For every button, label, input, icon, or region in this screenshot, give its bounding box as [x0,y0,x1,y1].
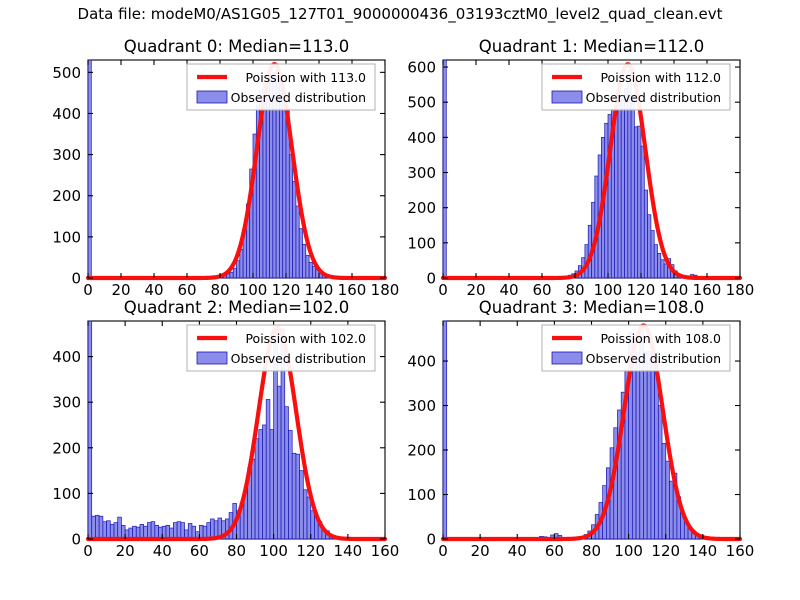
legend-label-poisson: Poission with 102.0 [245,331,366,346]
legend-patch-swatch [197,352,227,364]
histogram-bar [306,255,309,278]
histogram-bar [643,352,647,539]
histogram-bar [303,490,307,539]
subplot-title-quadrant-0: Quadrant 0: Median=113.0 [124,37,349,56]
x-tick-label: 80 [227,542,246,560]
legend-label-observed: Observed distribution [586,90,721,105]
y-tick-label: 0 [426,270,436,288]
x-tick-label: 40 [508,542,527,560]
histogram-bar [88,321,92,539]
histogram-bar [240,249,243,278]
histogram-bar [188,523,192,539]
histogram-bar [303,244,306,278]
subplot-title-quadrant-2: Quadrant 2: Median=102.0 [124,298,349,317]
legend-quadrant-0[interactable]: Poission with 113.0Observed distribution [187,64,375,110]
histogram-bar [658,406,662,539]
chart-quadrant-3: Quadrant 3: Median=108.00204060801001201… [395,295,748,569]
histogram-bar [312,266,315,278]
histogram-bar [107,521,111,539]
histogram-bar [309,262,312,278]
y-tick-label: 200 [407,199,436,217]
histogram-bar [233,268,236,278]
legend-label-observed: Observed distribution [231,351,366,366]
histogram-bar [230,272,233,278]
y-tick-label: 300 [407,164,436,182]
figure-canvas: Data file: modeM0/AS1G05_127T01_90000004… [0,0,800,600]
histogram-bar [270,430,274,539]
histogram-bar [651,352,655,539]
histogram-bar [255,439,259,539]
x-tick-label: 100 [614,542,643,560]
x-tick-label: 20 [471,542,490,560]
histogram-bar [88,60,91,278]
x-tick-label: 120 [651,542,680,560]
histogram-bar [615,105,618,278]
histogram-bar [207,523,211,539]
histogram-bar [443,321,447,539]
y-tick-label: 500 [52,64,81,82]
legend-patch-swatch [552,352,582,364]
histogram-bar [605,123,608,278]
histogram-bar [99,516,103,539]
histogram-bar [118,517,122,539]
histogram-bar [110,524,114,539]
y-tick-label: 300 [407,397,436,415]
y-tick-label: 100 [407,234,436,252]
legend-quadrant-2[interactable]: Poission with 102.0Observed distribution [187,325,375,371]
y-tick-label: 200 [52,187,81,205]
histogram-bar [288,430,292,539]
histogram-bar [654,245,657,278]
histogram-bar [621,95,624,278]
legend-quadrant-1[interactable]: Poission with 112.0Observed distribution [542,64,730,110]
legend-label-poisson: Poission with 113.0 [245,70,366,85]
histogram-bar [311,511,315,539]
x-tick-label: 160 [726,542,755,560]
histogram-bar [669,481,673,539]
histogram-bar [664,264,667,278]
y-tick-label: 300 [52,394,81,412]
histogram-bar [177,522,181,539]
histogram-bar [92,516,96,539]
legend-patch-swatch [197,91,227,103]
histogram-bar [625,88,628,278]
x-tick-label: 40 [153,542,172,560]
y-tick-label: 200 [407,442,436,460]
legend-patch-swatch [552,91,582,103]
x-tick-label: 20 [116,542,135,560]
y-tick-label: 200 [52,439,81,457]
histogram-bar [259,430,263,539]
histogram-bar [95,515,99,539]
histogram-bar [296,206,299,278]
histogram-bar [293,181,296,278]
x-tick-label: 140 [689,542,718,560]
histogram-bar [644,190,647,278]
histogram-bar [661,260,664,278]
histogram-bar [651,231,654,278]
histogram-bar [299,229,302,278]
subplot-title-quadrant-3: Quadrant 3: Median=108.0 [479,298,704,317]
histogram-bar [631,95,634,278]
y-tick-label: 100 [407,486,436,504]
legend-label-observed: Observed distribution [586,351,721,366]
histogram-bar [307,497,311,539]
histogram-bar [262,425,266,539]
y-tick-label: 0 [71,270,81,288]
x-tick-label: 140 [334,542,363,560]
histogram-bar [292,453,296,539]
legend-label-observed: Observed distribution [231,90,366,105]
y-tick-label: 400 [52,348,81,366]
histogram-bar [648,215,651,278]
x-tick-label: 0 [438,542,448,560]
chart-quadrant-0: Quadrant 0: Median=113.00204060801001201… [40,34,393,308]
y-tick-label: 400 [407,129,436,147]
histogram-bar [147,523,151,539]
legend-label-poisson: Poission with 108.0 [600,331,721,346]
subplot-title-quadrant-1: Quadrant 1: Median=112.0 [479,37,704,56]
histogram-bar [632,354,636,539]
y-tick-label: 600 [407,59,436,77]
figure-title: Data file: modeM0/AS1G05_127T01_90000004… [0,5,800,23]
histogram-bar [211,519,215,539]
x-tick-label: 80 [582,542,601,560]
histogram-bar [277,386,281,539]
histogram-bar [662,443,666,539]
x-tick-label: 60 [190,542,209,560]
histogram-bar [618,102,621,278]
chart-quadrant-1: Quadrant 1: Median=112.00204060801001201… [395,34,748,308]
legend-label-poisson: Poission with 112.0 [600,70,721,85]
histogram-bar [666,461,670,539]
histogram-bar [641,146,644,278]
y-tick-label: 0 [71,531,81,549]
histogram-bar [266,399,270,539]
histogram-bar [658,253,661,278]
y-tick-label: 0 [426,531,436,549]
histogram-bar [103,522,107,539]
x-tick-label: 0 [83,542,93,560]
y-tick-label: 500 [407,94,436,112]
histogram-bar [634,127,637,278]
y-tick-label: 300 [52,146,81,164]
x-tick-label: 60 [545,542,564,560]
histogram-bar [251,459,255,539]
chart-quadrant-2: Quadrant 2: Median=102.00204060801001201… [40,295,393,569]
histogram-bar [151,522,155,539]
histogram-bar [279,81,282,278]
histogram-bar [173,523,177,539]
y-tick-label: 400 [52,105,81,123]
histogram-bar [114,523,118,539]
histogram-bar [237,261,240,278]
y-tick-label: 100 [52,228,81,246]
histogram-bar [140,524,144,539]
histogram-bar [443,60,446,278]
histogram-bar [647,351,651,539]
histogram-bar [300,471,304,539]
histogram-bar [636,352,640,539]
histogram-bar [285,407,289,539]
x-tick-label: 120 [296,542,325,560]
histogram-bar [638,126,641,278]
legend-quadrant-3[interactable]: Poission with 108.0Observed distribution [542,325,730,371]
histogram-bar [181,523,185,539]
y-tick-label: 100 [52,485,81,503]
histogram-bar [283,101,286,278]
histogram-bar [289,155,292,278]
x-tick-label: 100 [259,542,288,560]
y-tick-label: 400 [407,353,436,371]
histogram-bar [296,454,300,539]
